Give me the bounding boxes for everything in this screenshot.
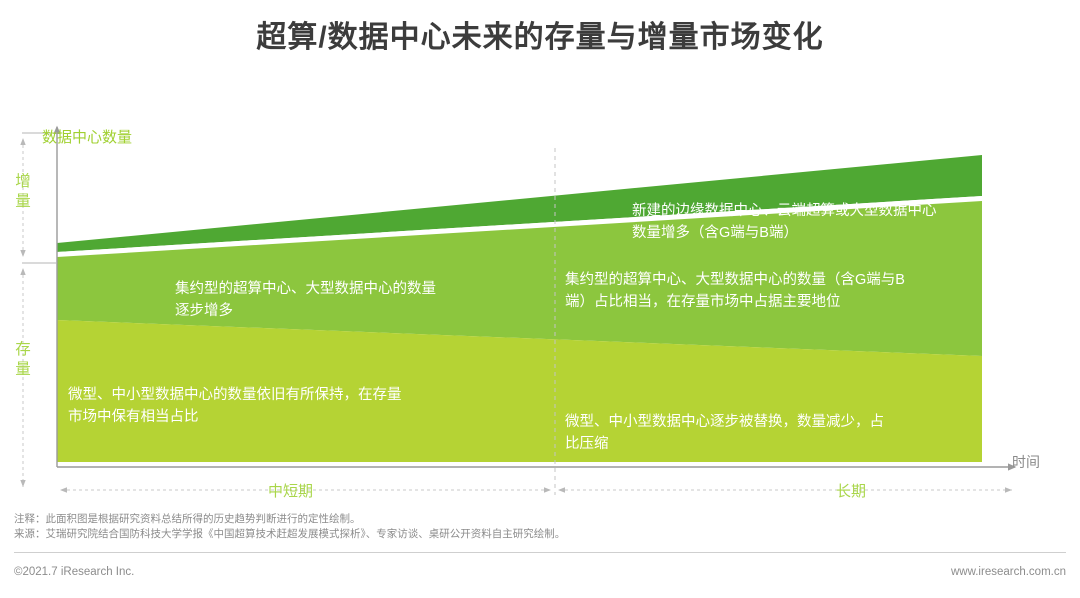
x-period-label-long-term: 长期 [836,480,866,501]
footnote-note: 注释：此面积图是根据研究资料总结所得的历史趋势判断进行的定性绘制。 [14,512,1014,527]
x-axis-title: 时间 [1012,452,1040,472]
footnote-source: 来源：艾瑞研究院结合国防科技大学学报《中国超算技术赶超发展模式探析》、专家访谈、… [14,527,1014,542]
copyright-text: ©2021.7 iResearch Inc. [14,566,134,578]
website-text: www.iresearch.com.cn [951,566,1066,578]
annotation-new-build: 新建的边缘数据中心、云端超算或大型数据中心 数量增多（含G端与B端） [632,200,982,244]
y-bracket-label-increment: 增量 [12,172,34,212]
x-period-label-short-mid-term: 中短期 [268,480,313,501]
footnotes: 注释：此面积图是根据研究资料总结所得的历史趋势判断进行的定性绘制。 来源：艾瑞研… [14,512,1014,542]
annotation-micro-left: 微型、中小型数据中心的数量依旧有所保持，在存量 市场中保有相当占比 [68,384,548,428]
annotation-intensive-right: 集约型的超算中心、大型数据中心的数量（含G端与B 端）占比相当，在存量市场中占据… [565,269,965,313]
annotation-micro-right: 微型、中小型数据中心逐步被替换，数量减少，占 比压缩 [565,411,945,455]
y-axis-title: 数据中心数量 [42,126,132,147]
footer-divider [14,552,1066,553]
y-bracket-label-stock: 存量 [12,340,34,380]
annotation-intensive-left: 集约型的超算中心、大型数据中心的数量 逐步增多 [175,278,545,322]
